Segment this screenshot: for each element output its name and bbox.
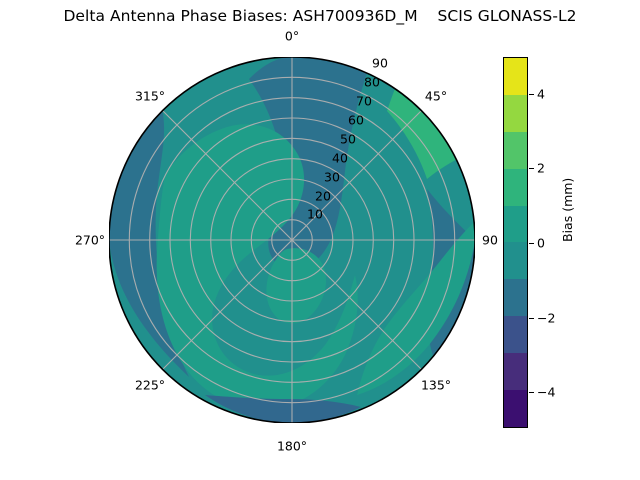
colorbar-ticklabel-neg2: −2 <box>537 311 555 326</box>
polar-contour-svg <box>109 57 475 423</box>
r-tick-20: 20 <box>315 189 331 204</box>
figure-title: Delta Antenna Phase Biases: ASH700936D_M… <box>0 7 640 25</box>
colorbar-band-7 <box>504 316 527 353</box>
colorbar-tick-neg2 <box>529 318 534 319</box>
r-tick-40: 40 <box>332 151 348 166</box>
r-tick-80: 80 <box>364 75 380 90</box>
r-tick-30: 30 <box>324 170 340 185</box>
r-tick-10: 10 <box>307 207 323 222</box>
colorbar-tick-0 <box>529 243 534 244</box>
colorbar <box>503 57 528 428</box>
theta-tick-45: 45° <box>425 89 447 104</box>
colorbar-band-9 <box>504 390 527 427</box>
colorbar-band-2 <box>504 132 527 169</box>
colorbar-axis-label: Bias (mm) <box>560 178 575 242</box>
figure-canvas: Delta Antenna Phase Biases: ASH700936D_M… <box>0 0 640 480</box>
theta-tick-0: 0° <box>285 29 299 44</box>
r-tick-50: 50 <box>340 132 356 147</box>
colorbar-band-0 <box>504 58 527 95</box>
polar-grid <box>109 57 475 423</box>
colorbar-ticklabel-4: 4 <box>537 87 545 102</box>
colorbar-tick-4 <box>529 94 534 95</box>
colorbar-ticklabel-0: 0 <box>537 236 545 251</box>
colorbar-band-4 <box>504 206 527 243</box>
theta-tick-135: 135° <box>421 378 451 393</box>
theta-tick-315: 315° <box>135 89 165 104</box>
r-tick-90: 90 <box>372 56 388 71</box>
r-tick-60: 60 <box>348 113 364 128</box>
theta-tick-180: 180° <box>277 439 307 454</box>
colorbar-band-1 <box>504 95 527 132</box>
colorbar-band-6 <box>504 279 527 316</box>
theta-tick-270: 270° <box>75 233 105 248</box>
colorbar-tick-neg4 <box>529 392 534 393</box>
colorbar-tick-2 <box>529 168 534 169</box>
colorbar-ticklabel-2: 2 <box>537 161 545 176</box>
theta-tick-225: 225° <box>135 378 165 393</box>
theta-tick-90: 90 <box>482 233 498 248</box>
colorbar-band-3 <box>504 169 527 206</box>
colorbar-band-5 <box>504 242 527 279</box>
colorbar-ticklabel-neg4: −4 <box>537 385 555 400</box>
polar-plot <box>109 57 475 423</box>
colorbar-band-8 <box>504 353 527 390</box>
r-tick-70: 70 <box>356 94 372 109</box>
